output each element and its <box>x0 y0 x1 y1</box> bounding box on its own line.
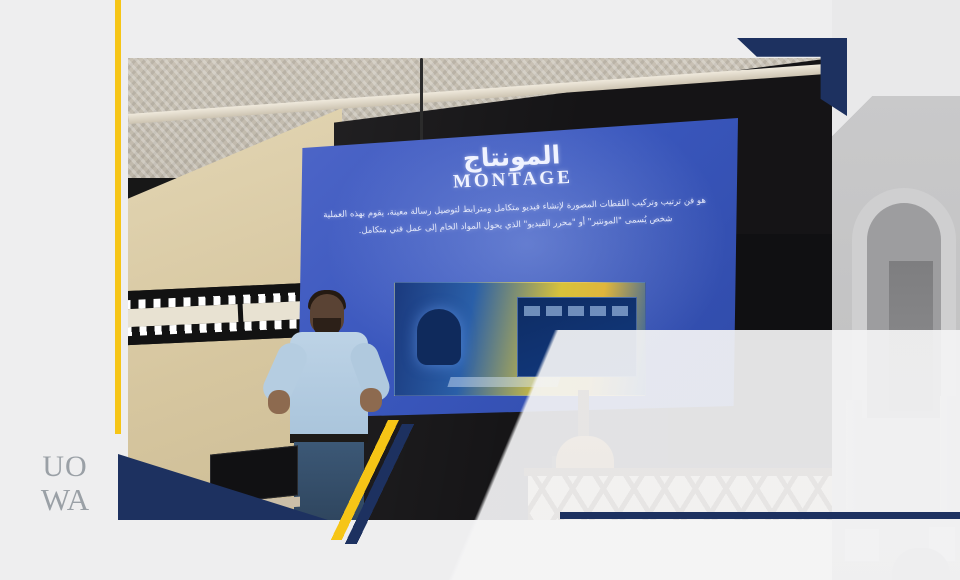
lecture-hall-presentation-photo: المونتاج MONTAGE هو فن ترتيب وتركيب اللق… <box>128 58 832 520</box>
slide-illustration-monitor <box>517 297 637 377</box>
presenter-hand-right <box>360 388 382 412</box>
slide-illustration-desk <box>447 377 560 387</box>
railing-rail <box>524 468 832 476</box>
watermark-column-left <box>846 400 862 510</box>
logo-bottom-row: WA <box>28 484 102 516</box>
presenter-trousers <box>294 442 364 520</box>
slide-illustration-person <box>417 309 461 365</box>
watermark-column-right <box>940 396 956 510</box>
navy-horizontal-rule <box>560 512 960 519</box>
presenter-hand-left <box>268 390 290 414</box>
campus-building-watermark <box>832 0 960 580</box>
yellow-vertical-accent <box>115 0 121 434</box>
slide-body-text: هو فن ترتيب وتركيب اللقطات المصورة لإنشا… <box>320 193 710 241</box>
logo-letters-wa: WA <box>41 484 89 516</box>
watermark-arch <box>852 188 956 418</box>
poster-canvas: المونتاج MONTAGE هو فن ترتيب وتركيب اللق… <box>0 0 960 580</box>
logo-letter-u: UO <box>42 452 87 482</box>
uowa-logo: UO WA <box>28 452 102 520</box>
watermark-window <box>844 528 880 562</box>
logo-top-row: UO <box>28 452 102 482</box>
slide-illustration <box>394 282 646 396</box>
